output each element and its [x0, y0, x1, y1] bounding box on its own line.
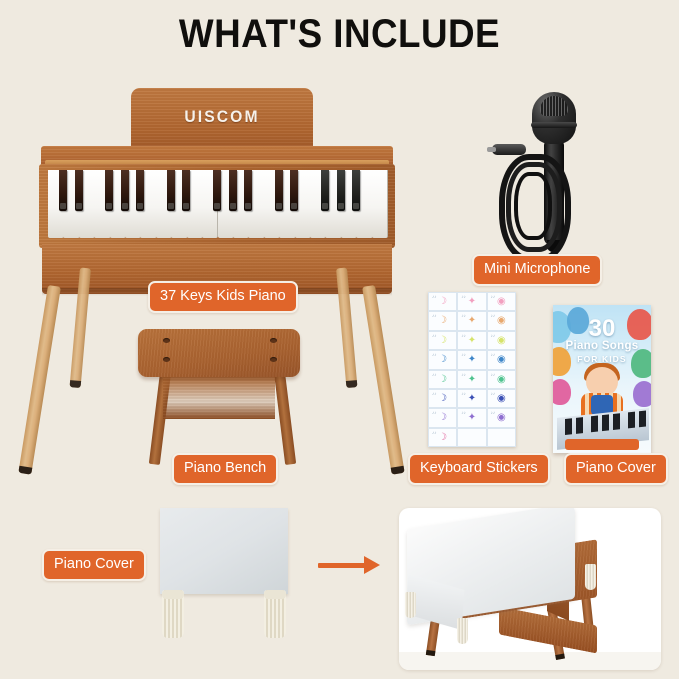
sticker-cell[interactable]: ♪♪☽ [428, 389, 457, 408]
product-mini-microphone [487, 92, 597, 252]
piano-black-key[interactable] [337, 170, 345, 211]
product-keyboard-stickers: ♪♪☽♪♪✦♪♪◉♪♪☽♪♪✦♪♪◉♪♪☽♪♪✦♪♪◉♪♪☽♪♪✦♪♪◉♪♪☽♪… [428, 292, 516, 447]
piano-black-key[interactable] [121, 170, 129, 211]
piano-black-key[interactable] [59, 170, 67, 211]
sticker-moon-icon: ☽ [438, 433, 447, 443]
music-note-icon: ♪♪ [461, 334, 466, 339]
sticker-moon-icon: ☽ [438, 316, 447, 326]
leg-tip [391, 466, 405, 475]
sticker-circle-icon: ◉ [497, 413, 506, 423]
product-piano-cover [160, 508, 288, 594]
sticker-cell[interactable]: ♪♪◉ [487, 350, 516, 369]
inset-tassel-mid [457, 618, 468, 644]
mic-cable-coil-inner [514, 172, 552, 240]
music-note-icon: ♪♪ [491, 334, 496, 339]
bench-screw-hole [270, 338, 277, 343]
bench-seat [138, 329, 300, 377]
brand-logo-text: UISCOM [136, 108, 309, 127]
sticker-circle-icon: ◉ [497, 394, 506, 404]
sticker-cell[interactable]: ♪♪◉ [487, 389, 516, 408]
sticker-cell[interactable]: ♪♪☽ [428, 370, 457, 389]
music-note-icon: ♪♪ [491, 353, 496, 358]
songbook-bottom-bar [565, 439, 639, 450]
piano-black-key[interactable] [213, 170, 221, 211]
sticker-star-icon: ✦ [468, 297, 476, 307]
sticker-cell[interactable]: ♪♪☽ [428, 428, 457, 447]
piano-black-key[interactable] [167, 170, 175, 211]
sticker-cell[interactable]: ♪♪◉ [487, 292, 516, 311]
music-note-icon: ♪♪ [432, 373, 437, 378]
music-note-icon: ♪♪ [432, 314, 437, 319]
sticker-star-icon: ✦ [468, 336, 476, 346]
sticker-cell[interactable]: ♪♪✦ [457, 350, 486, 369]
bench-apron [163, 375, 275, 419]
leg-tip [426, 650, 436, 656]
sticker-circle-icon: ◉ [497, 316, 506, 326]
sticker-star-icon: ✦ [468, 394, 476, 404]
music-note-icon: ♪♪ [461, 392, 466, 397]
piano-white-key[interactable] [372, 170, 388, 238]
sticker-cell[interactable] [457, 428, 486, 447]
cover-tassel-right [264, 590, 286, 638]
music-note-icon: ♪♪ [432, 334, 437, 339]
mic-grill [540, 96, 568, 116]
songbook-title: Piano Songs [553, 340, 651, 352]
inset-tassel-left [405, 592, 416, 618]
leg-tip [70, 380, 82, 388]
sticker-circle-icon: ◉ [497, 336, 506, 346]
piano-black-key[interactable] [290, 170, 298, 211]
sticker-star-icon: ✦ [468, 316, 476, 326]
piano-keyboard [48, 170, 387, 238]
cover-tassel-left [162, 590, 184, 638]
music-note-icon: ♪♪ [461, 411, 466, 416]
inset-tassel-right [585, 564, 596, 590]
piano-black-key[interactable] [229, 170, 237, 211]
piano-black-key[interactable] [136, 170, 144, 211]
music-note-icon: ♪♪ [432, 411, 437, 416]
music-note-icon: ♪♪ [432, 295, 437, 300]
sticker-cell[interactable]: ♪♪✦ [457, 389, 486, 408]
music-note-icon: ♪♪ [491, 411, 496, 416]
sticker-circle-icon: ◉ [497, 297, 506, 307]
sticker-cell[interactable]: ♪♪☽ [428, 311, 457, 330]
label-songbook: Piano Cover [564, 453, 668, 485]
bench-screw-hole [163, 338, 170, 343]
sticker-cell[interactable]: ♪♪◉ [487, 311, 516, 330]
flow-arrow-shaft [318, 563, 370, 568]
music-note-icon: ♪♪ [491, 373, 496, 378]
sticker-moon-icon: ☽ [438, 394, 447, 404]
sticker-star-icon: ✦ [468, 355, 476, 365]
sticker-circle-icon: ◉ [497, 355, 506, 365]
sticker-moon-icon: ☽ [438, 375, 447, 385]
sticker-cell[interactable]: ♪♪☽ [428, 331, 457, 350]
bench-screw-hole [270, 357, 277, 362]
mic-ring [531, 122, 577, 128]
sticker-moon-icon: ☽ [438, 413, 447, 423]
sticker-star-icon: ✦ [468, 413, 476, 423]
sticker-cell[interactable]: ♪♪◉ [487, 331, 516, 350]
page-title: WHAT'S INCLUDE [27, 12, 652, 57]
product-piano-bench [132, 325, 312, 465]
inset-photo-card [399, 508, 661, 670]
music-note-icon: ♪♪ [491, 392, 496, 397]
music-note-icon: ♪♪ [432, 353, 437, 358]
leg-tip [18, 466, 32, 475]
leg-tip [346, 380, 358, 388]
music-note-icon: ♪♪ [461, 314, 466, 319]
label-piano-cover: Piano Cover [42, 549, 146, 581]
piano-black-key[interactable] [182, 170, 190, 211]
songbook-number: 30 [553, 315, 651, 343]
piano-black-key[interactable] [244, 170, 252, 211]
sticker-cell[interactable]: ♪♪☽ [428, 350, 457, 369]
piano-black-key[interactable] [321, 170, 329, 211]
sticker-cell[interactable]: ♪♪✦ [457, 370, 486, 389]
sticker-moon-icon: ☽ [438, 297, 447, 307]
label-piano-bench: Piano Bench [172, 453, 278, 485]
piano-black-key[interactable] [75, 170, 83, 211]
mic-plug [492, 144, 526, 155]
product-songbook: 30 Piano Songs FOR KIDS [553, 305, 651, 453]
music-note-icon: ♪♪ [432, 431, 437, 436]
piano-black-key[interactable] [105, 170, 113, 211]
label-kids-piano: 37 Keys Kids Piano [148, 281, 298, 313]
infographic-canvas: WHAT'S INCLUDE UISCOM 37 Keys Kids Piano [0, 0, 679, 679]
sticker-cell[interactable]: ♪♪◉ [487, 370, 516, 389]
piano-black-key[interactable] [352, 170, 360, 211]
flow-arrow-head [364, 556, 380, 574]
balloon-decor [553, 379, 571, 405]
music-note-icon: ♪♪ [491, 295, 496, 300]
music-note-icon: ♪♪ [461, 353, 466, 358]
sticker-cell[interactable]: ♪♪✦ [457, 292, 486, 311]
music-note-icon: ♪♪ [491, 314, 496, 319]
sticker-moon-icon: ☽ [438, 336, 447, 346]
sticker-cell[interactable]: ♪♪◉ [487, 408, 516, 427]
sticker-moon-icon: ☽ [438, 355, 447, 365]
sticker-cell[interactable]: ♪♪☽ [428, 292, 457, 311]
tassel-knot [264, 590, 286, 599]
sticker-cell[interactable]: ♪♪☽ [428, 408, 457, 427]
piano-leg-front-right [362, 285, 405, 475]
bench-screw-hole [163, 357, 170, 362]
piano-black-key[interactable] [275, 170, 283, 211]
sticker-cell[interactable]: ♪♪✦ [457, 331, 486, 350]
sticker-cell[interactable]: ♪♪✦ [457, 311, 486, 330]
inset-floor [399, 652, 661, 670]
mic-plug-pin [487, 147, 496, 152]
label-keyboard-stickers: Keyboard Stickers [408, 453, 550, 485]
tassel-knot [162, 590, 184, 599]
music-note-icon: ♪♪ [461, 373, 466, 378]
balloon-decor [633, 381, 651, 407]
bench-leg-right [274, 372, 296, 465]
music-note-icon: ♪♪ [432, 392, 437, 397]
music-note-icon: ♪♪ [461, 295, 466, 300]
sticker-star-icon: ✦ [468, 375, 476, 385]
piano-leg-front-left [18, 285, 61, 475]
sticker-cell[interactable]: ♪♪✦ [457, 408, 486, 427]
sticker-cell[interactable] [487, 428, 516, 447]
label-mini-microphone: Mini Microphone [472, 254, 602, 286]
sticker-circle-icon: ◉ [497, 375, 506, 385]
